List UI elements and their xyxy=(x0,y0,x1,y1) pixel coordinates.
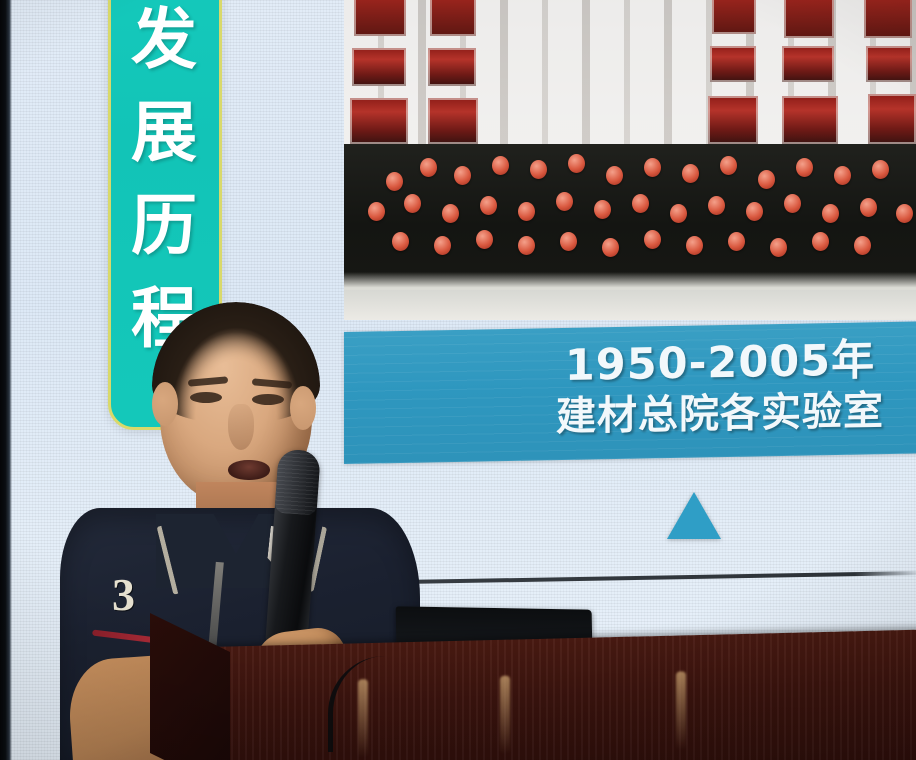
facade-door xyxy=(708,96,758,144)
sleeve-number: 3 xyxy=(112,572,135,618)
lectern xyxy=(168,629,916,760)
up-triangle-icon xyxy=(667,492,721,539)
facade-window xyxy=(864,0,912,38)
facade-door xyxy=(868,94,916,144)
facade-door xyxy=(782,96,838,144)
slide-historical-photo xyxy=(344,0,916,320)
facade-window xyxy=(866,46,912,82)
facade-window xyxy=(352,48,406,86)
facade-door xyxy=(350,98,408,144)
facade-window xyxy=(784,0,834,38)
caption-year-range: 1950-2005年 xyxy=(556,334,884,392)
facade-window xyxy=(712,0,756,34)
screenshot-stage: 发 展 历 程 xyxy=(0,0,916,760)
speaker-eye-right xyxy=(252,394,284,405)
caption-subtitle: 建材总院各实验室 xyxy=(556,386,884,442)
facade-window xyxy=(782,46,834,82)
wood-highlight xyxy=(676,671,686,749)
speaker-ear-right xyxy=(290,386,316,430)
facade-window xyxy=(710,46,756,82)
facade-window xyxy=(428,48,476,86)
crowd-group xyxy=(344,144,916,292)
screen-left-edge xyxy=(0,0,12,760)
facade-window xyxy=(354,0,406,36)
facade-door xyxy=(428,98,478,144)
microphone-head xyxy=(274,449,320,516)
speaker-eye-left xyxy=(190,392,222,403)
speaker-ear-left xyxy=(152,382,178,426)
wood-highlight xyxy=(500,676,510,754)
wood-grain xyxy=(168,629,916,760)
facade-window xyxy=(430,0,476,36)
speaker-mouth xyxy=(228,460,270,480)
speaker-nose xyxy=(228,404,254,450)
